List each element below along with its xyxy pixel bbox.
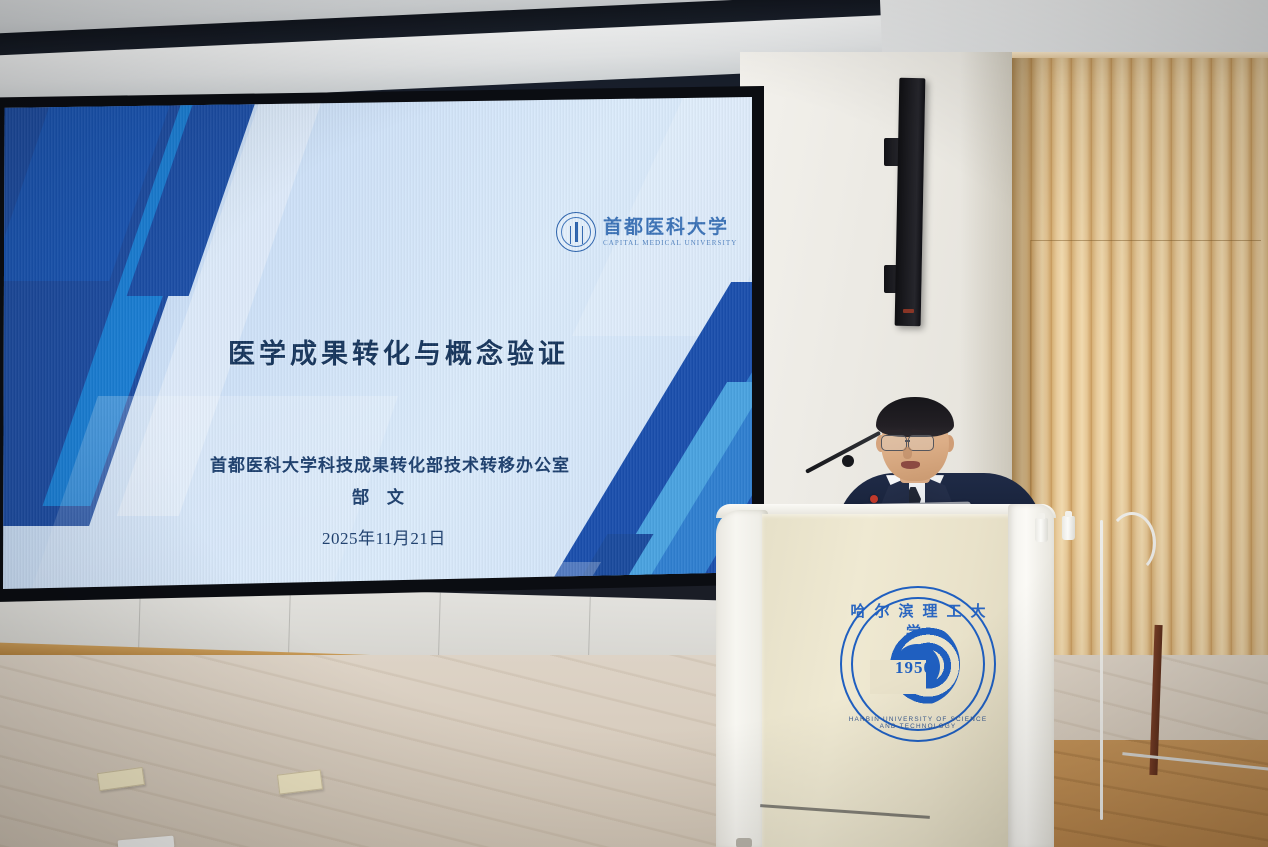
- capital-medical-university-logo: 首都医科大学 CAPITAL MEDICAL UNIVERSITY: [556, 212, 737, 252]
- presentation-room-photo: 首都医科大学 CAPITAL MEDICAL UNIVERSITY 医学成果转化…: [0, 0, 1268, 847]
- column-speaker-icon: [895, 78, 926, 326]
- lectern-front-face: 1950 哈尔滨理工大学 HARBIN UNIVERSITY OF SCIENC…: [762, 514, 1012, 847]
- logo-name-cn: 哈尔滨理工大学: [840, 600, 996, 642]
- presenter-mouth: [901, 461, 920, 469]
- university-name-en: CAPITAL MEDICAL UNIVERSITY: [603, 240, 737, 247]
- water-bottle-2[interactable]: [1062, 516, 1075, 540]
- power-cable-loop: [1108, 512, 1156, 574]
- glasses-lens-right-icon: [908, 435, 934, 451]
- microphone-capsule-icon: [842, 455, 854, 467]
- water-bottle-1[interactable]: [1035, 518, 1048, 542]
- lectern-foot: [736, 838, 752, 847]
- slide-organization: 首都医科大学科技成果转化部技术转移办公室: [210, 451, 570, 476]
- slide-date: 2025年11月21日: [322, 524, 446, 549]
- glasses-bridge-icon: [905, 440, 910, 442]
- harbin-university-logo: 1950 哈尔滨理工大学 HARBIN UNIVERSITY OF SCIENC…: [840, 586, 996, 742]
- speaker-led-indicator: [903, 309, 914, 313]
- university-name-cn: 首都医科大学: [603, 218, 737, 237]
- logo-year: 1950: [884, 658, 944, 678]
- power-cable: [1100, 520, 1103, 820]
- projection-screen[interactable]: 首都医科大学 CAPITAL MEDICAL UNIVERSITY 医学成果转化…: [0, 96, 752, 592]
- slide-title: 医学成果转化与概念验证: [228, 332, 569, 371]
- lectern-right-panel: [1008, 504, 1054, 847]
- lectern: 1950 哈尔滨理工大学 HARBIN UNIVERSITY OF SCIENC…: [716, 498, 1102, 847]
- slide-presenter-name: 郜 文: [352, 483, 410, 508]
- presenter-nose: [903, 447, 912, 459]
- logo-name-en: HARBIN UNIVERSITY OF SCIENCE AND TECHNOL…: [840, 716, 996, 730]
- lectern-left-panel: [716, 510, 768, 847]
- university-emblem-icon: [556, 212, 596, 252]
